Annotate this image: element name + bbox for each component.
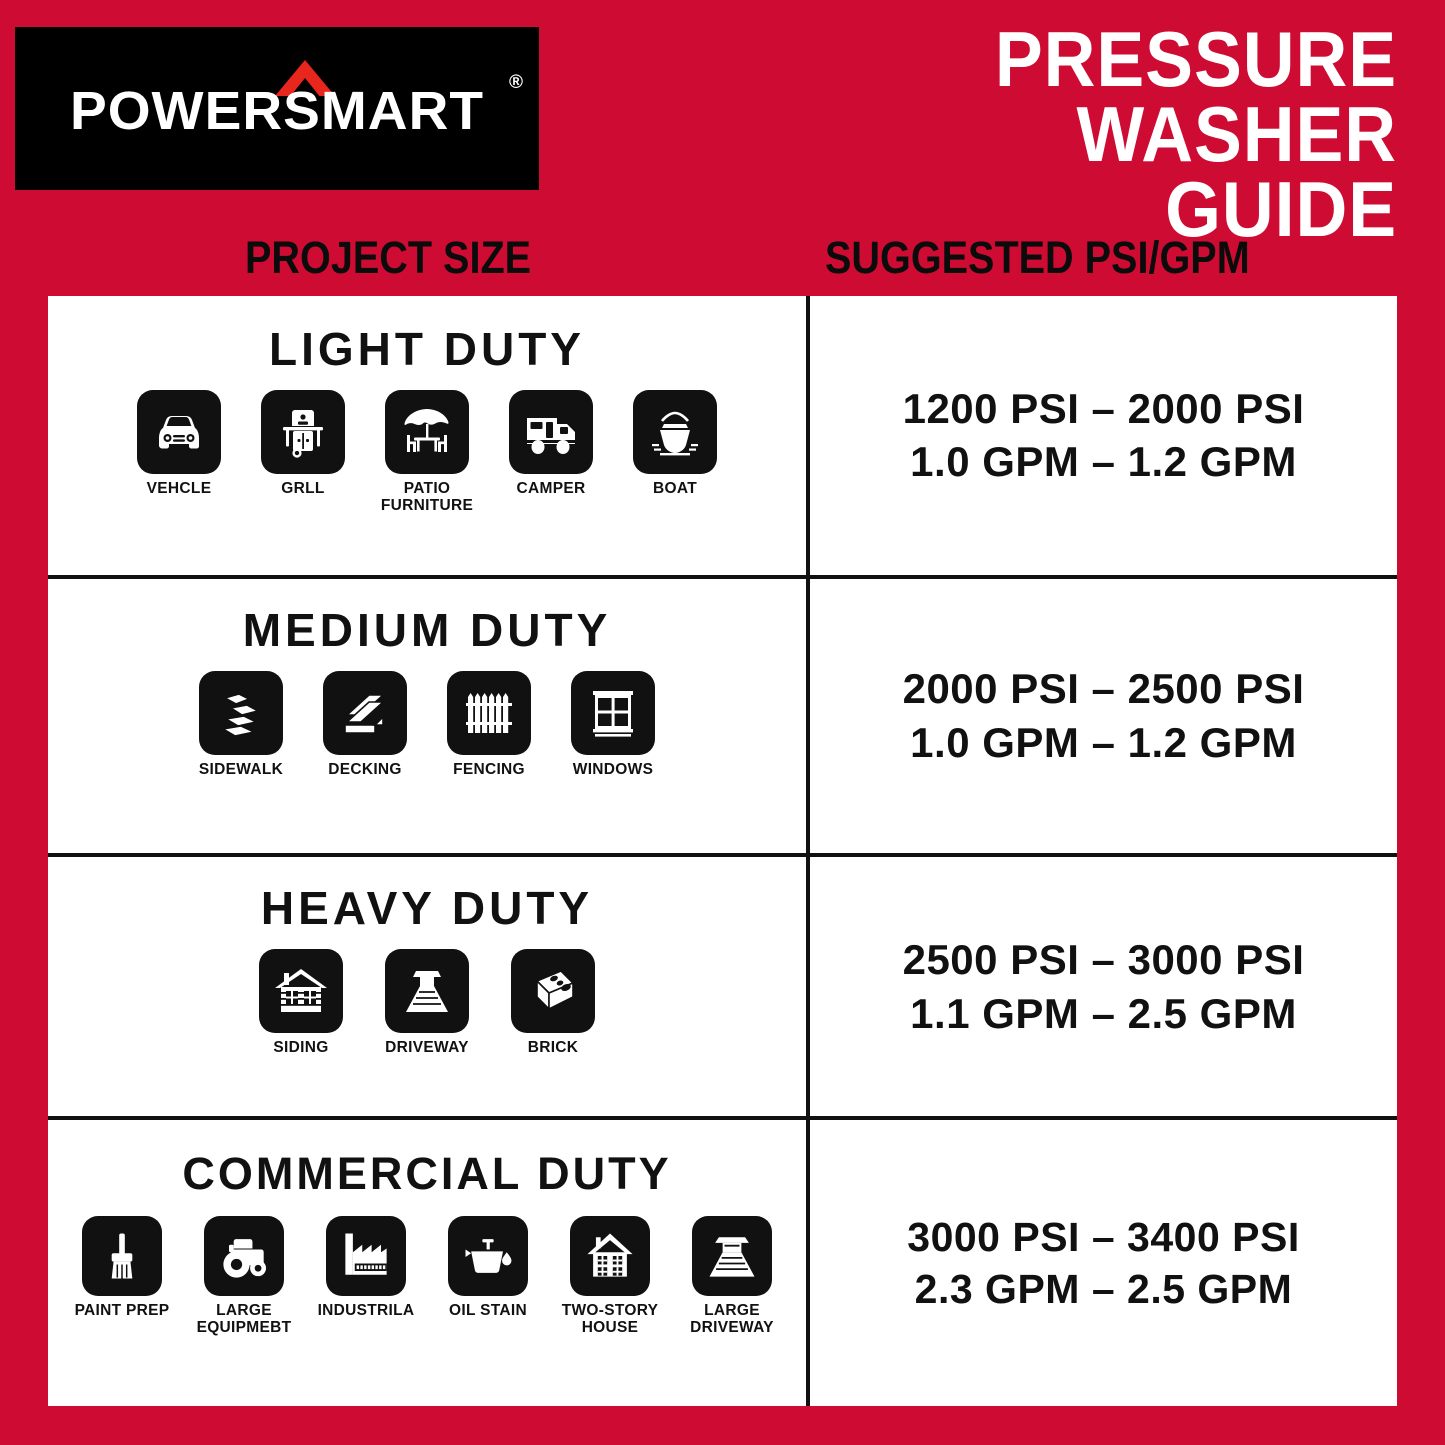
gpm-value-commercial: 2.3 GPM – 2.5 GPM	[915, 1263, 1293, 1315]
large-driveway-icon	[692, 1216, 772, 1296]
tractor-icon	[204, 1216, 284, 1296]
icon-item-large-driveway: LARGEDRIVEWAY	[677, 1216, 787, 1336]
icon-item-large-equipment: LARGEEQUIPMEBT	[189, 1216, 299, 1336]
icon-label: LARGEDRIVEWAY	[690, 1303, 774, 1336]
gpm-value-light: 1.0 GPM – 1.2 GPM	[910, 435, 1297, 489]
icon-label: SIDING	[273, 1040, 328, 1057]
table-row-light-duty: LIGHT DUTY	[48, 296, 1397, 579]
icon-label: CAMPER	[517, 481, 586, 498]
icon-group-commercial: PAINT PREP	[48, 1216, 806, 1336]
icon-label: DRIVEWAY	[385, 1040, 469, 1057]
icon-item-sidewalk: SIDEWALK	[189, 671, 293, 779]
table-row-medium-duty: MEDIUM DUTY SIDEWALK	[48, 579, 1397, 857]
project-size-cell-light: LIGHT DUTY	[48, 296, 810, 575]
title-line-1: PRESSURE WASHER	[995, 15, 1397, 178]
psi-gpm-cell-medium: 2000 PSI – 2500 PSI 1.0 GPM – 1.2 GPM	[810, 579, 1397, 853]
icon-item-patio-furniture: PATIOFURNITURE	[375, 390, 479, 514]
windows-icon	[571, 671, 655, 755]
icon-label: SIDEWALK	[199, 762, 283, 779]
icon-label: VEHCLE	[147, 481, 212, 498]
table-row-commercial-duty: COMMERCIAL DUTY	[48, 1120, 1397, 1406]
project-size-cell-medium: MEDIUM DUTY SIDEWALK	[48, 579, 810, 853]
patio-furniture-icon	[385, 390, 469, 474]
icon-item-oil-stain: OIL STAIN	[433, 1216, 543, 1320]
psi-value-commercial: 3000 PSI – 3400 PSI	[907, 1211, 1299, 1263]
icon-item-two-story-house: TWO-STORYHOUSE	[555, 1216, 665, 1336]
icon-label: OIL STAIN	[449, 1303, 527, 1320]
boat-icon	[633, 390, 717, 474]
duty-table: LIGHT DUTY	[48, 296, 1397, 1406]
icon-label: BRICK	[528, 1040, 579, 1057]
factory-icon	[326, 1216, 406, 1296]
vehicle-icon	[137, 390, 221, 474]
icon-label: INDUSTRILA	[318, 1303, 415, 1320]
icon-label: DECKING	[328, 762, 402, 779]
gpm-value-heavy: 1.1 GPM – 2.5 GPM	[910, 987, 1297, 1041]
grill-icon	[261, 390, 345, 474]
icon-item-fencing: FENCING	[437, 671, 541, 779]
icon-label: WINDOWS	[573, 762, 653, 779]
icon-item-camper: CAMPER	[499, 390, 603, 498]
duty-title-heavy: HEAVY DUTY	[261, 881, 593, 935]
paint-brush-icon	[82, 1216, 162, 1296]
psi-gpm-cell-light: 1200 PSI – 2000 PSI 1.0 GPM – 1.2 GPM	[810, 296, 1397, 575]
icon-item-industrial: INDUSTRILA	[311, 1216, 421, 1320]
icon-label: FENCING	[453, 762, 525, 779]
icon-item-siding: SIDING	[249, 949, 353, 1057]
powersmart-logo: POWERSMART ®	[15, 27, 539, 190]
icon-label: PAINT PREP	[75, 1303, 170, 1320]
infographic-page: POWERSMART ® PRESSURE WASHER GUIDE PROJE…	[0, 0, 1445, 1445]
icon-item-decking: DECKING	[313, 671, 417, 779]
siding-icon	[259, 949, 343, 1033]
column-header-psi-gpm: SUGGESTED PSI/GPM	[825, 232, 1250, 284]
psi-value-heavy: 2500 PSI – 3000 PSI	[903, 933, 1305, 987]
logo-wordmark: POWERSMART	[32, 80, 522, 142]
column-header-project-size: PROJECT SIZE	[245, 232, 531, 284]
project-size-cell-commercial: COMMERCIAL DUTY	[48, 1120, 810, 1406]
driveway-icon	[385, 949, 469, 1033]
icon-group-light: VEHCLE	[48, 390, 806, 514]
duty-title-commercial: COMMERCIAL DUTY	[182, 1148, 671, 1200]
icon-group-heavy: SIDING	[48, 949, 806, 1057]
icon-label: TWO-STORYHOUSE	[562, 1303, 659, 1336]
icon-label: GRLL	[281, 481, 324, 498]
icon-label: PATIOFURNITURE	[381, 481, 473, 514]
icon-label: LARGEEQUIPMEBT	[197, 1303, 292, 1336]
decking-icon	[323, 671, 407, 755]
icon-group-medium: SIDEWALK DECKING	[48, 671, 806, 779]
icon-item-driveway: DRIVEWAY	[375, 949, 479, 1057]
icon-item-brick: BRICK	[501, 949, 605, 1057]
camper-icon	[509, 390, 593, 474]
psi-value-light: 1200 PSI – 2000 PSI	[903, 382, 1305, 436]
brick-icon	[511, 949, 595, 1033]
project-size-cell-heavy: HEAVY DUTY	[48, 857, 810, 1116]
duty-title-light: LIGHT DUTY	[269, 322, 585, 376]
sidewalk-icon	[199, 671, 283, 755]
header-banner: POWERSMART ® PRESSURE WASHER GUIDE	[0, 0, 1445, 225]
icon-item-boat: BOAT	[623, 390, 727, 498]
two-story-house-icon	[570, 1216, 650, 1296]
registered-trademark-icon: ®	[509, 72, 523, 94]
duty-title-medium: MEDIUM DUTY	[243, 603, 612, 657]
table-row-heavy-duty: HEAVY DUTY	[48, 857, 1397, 1120]
fencing-icon	[447, 671, 531, 755]
psi-gpm-cell-commercial: 3000 PSI – 3400 PSI 2.3 GPM – 2.5 GPM	[810, 1120, 1397, 1406]
icon-item-windows: WINDOWS	[561, 671, 665, 779]
oil-can-icon	[448, 1216, 528, 1296]
psi-gpm-cell-heavy: 2500 PSI – 3000 PSI 1.1 GPM – 2.5 GPM	[810, 857, 1397, 1116]
icon-label: BOAT	[653, 481, 697, 498]
gpm-value-medium: 1.0 GPM – 1.2 GPM	[910, 716, 1297, 770]
psi-value-medium: 2000 PSI – 2500 PSI	[903, 662, 1305, 716]
icon-item-grill: GRLL	[251, 390, 355, 498]
column-headers: PROJECT SIZE SUGGESTED PSI/GPM	[0, 232, 1445, 294]
icon-item-vehicle: VEHCLE	[127, 390, 231, 498]
page-title: PRESSURE WASHER GUIDE	[661, 22, 1397, 247]
icon-item-paint-prep: PAINT PREP	[67, 1216, 177, 1320]
